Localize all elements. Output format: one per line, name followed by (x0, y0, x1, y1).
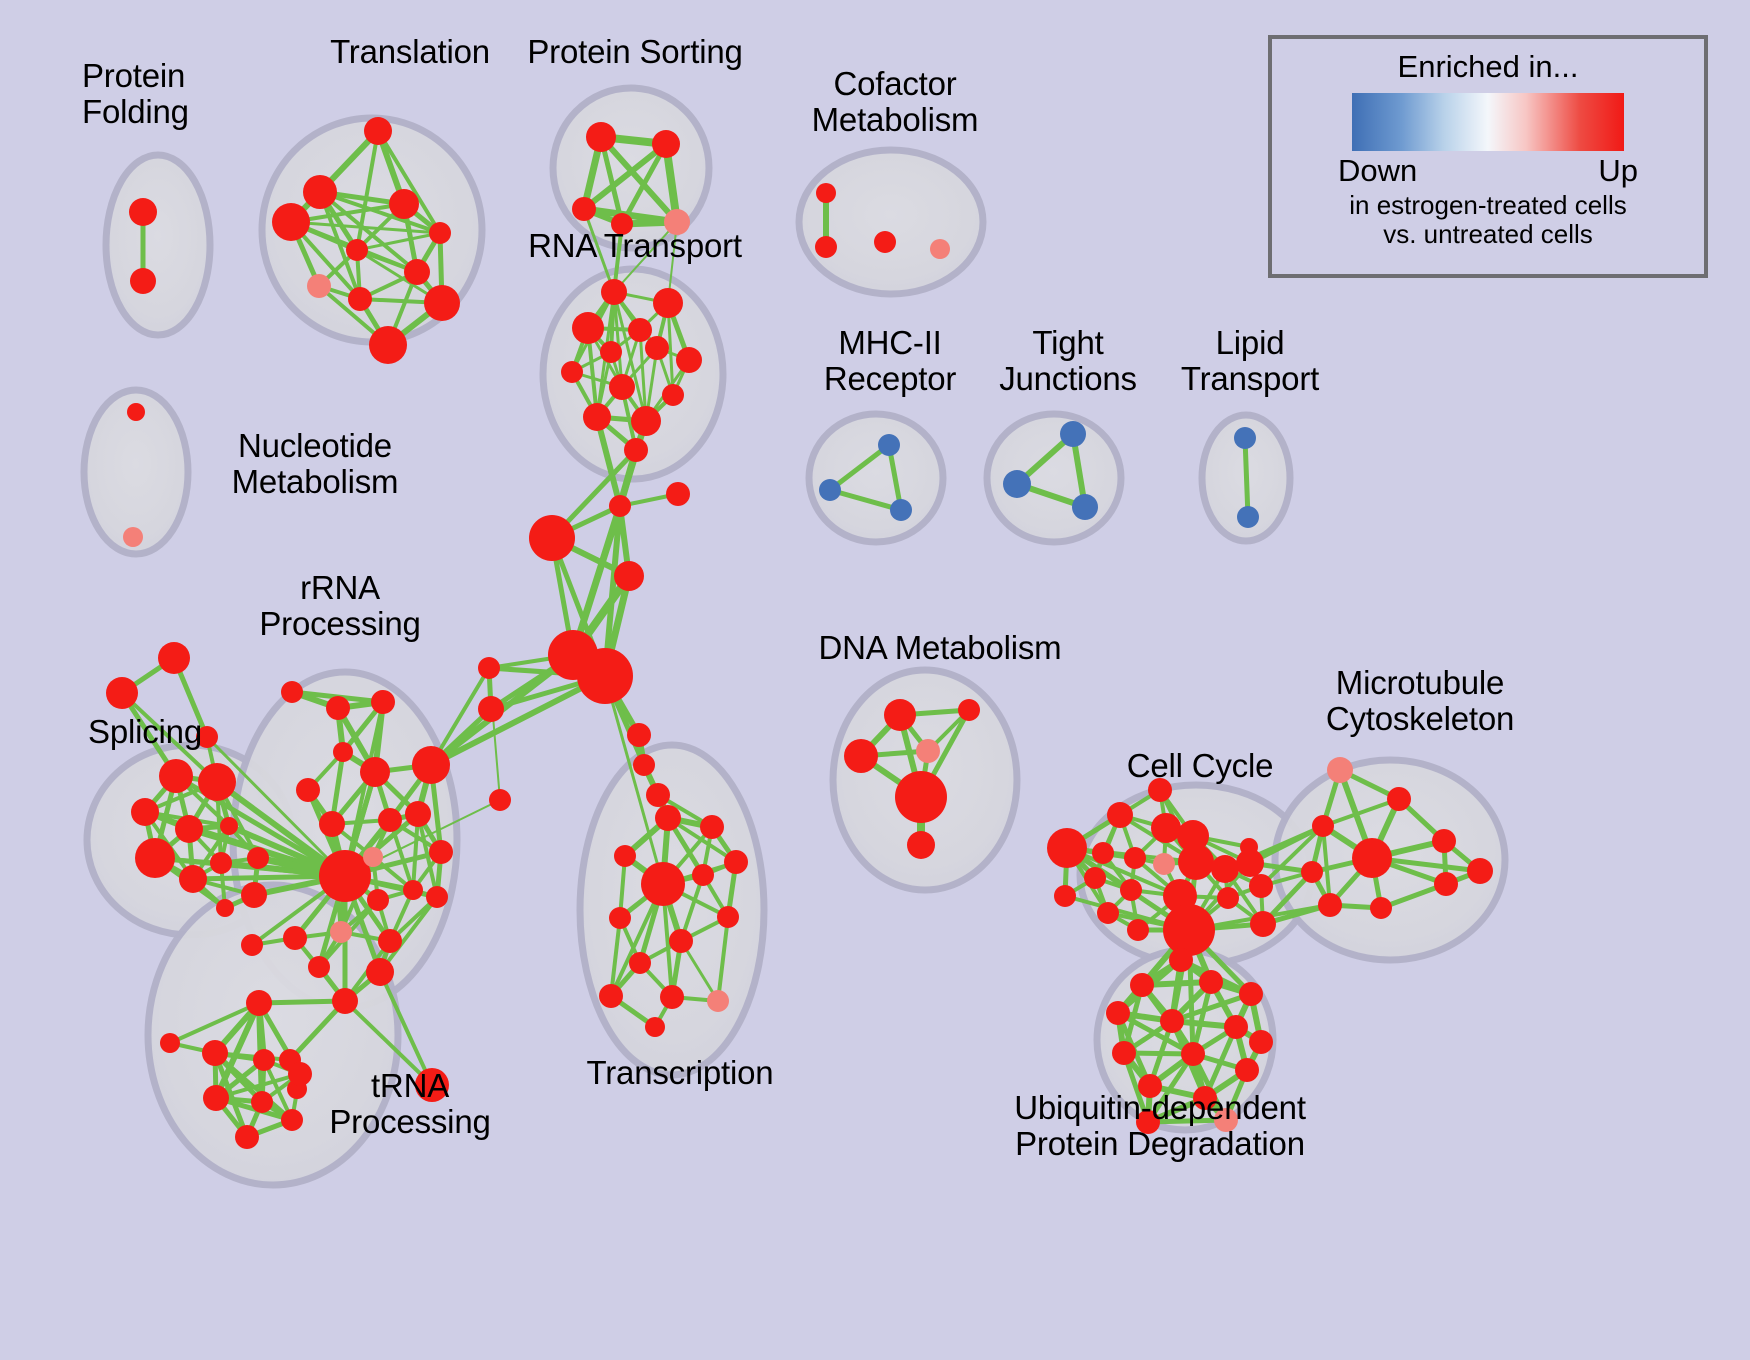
gene-set-node[interactable] (1214, 1108, 1238, 1132)
gene-set-node[interactable] (429, 222, 451, 244)
gene-set-node[interactable] (874, 231, 896, 253)
gene-set-node[interactable] (203, 1085, 229, 1111)
gene-set-node[interactable] (1239, 982, 1263, 1006)
gene-set-node[interactable] (627, 723, 651, 747)
gene-set-node[interactable] (330, 921, 352, 943)
gene-set-node[interactable] (296, 778, 320, 802)
gene-set-node[interactable] (614, 561, 644, 591)
gene-set-node[interactable] (645, 1017, 665, 1037)
gene-set-node[interactable] (572, 197, 596, 221)
cluster-hull-protein-folding (106, 155, 210, 335)
gene-set-node[interactable] (1084, 867, 1106, 889)
gene-set-node[interactable] (251, 1091, 273, 1113)
gene-set-node[interactable] (363, 847, 383, 867)
gene-set-node[interactable] (890, 499, 912, 521)
gene-set-node[interactable] (676, 347, 702, 373)
gene-set-node[interactable] (241, 934, 263, 956)
gene-set-node[interactable] (360, 757, 390, 787)
gene-set-node[interactable] (586, 122, 616, 152)
gene-set-node[interactable] (283, 926, 307, 950)
gene-set-node[interactable] (1217, 887, 1239, 909)
gene-set-node[interactable] (1318, 893, 1342, 917)
gene-set-node[interactable] (816, 183, 836, 203)
gene-set-node[interactable] (131, 798, 159, 826)
gene-set-node[interactable] (958, 699, 980, 721)
gene-set-node[interactable] (631, 406, 661, 436)
gene-set-node[interactable] (884, 699, 916, 731)
gene-set-node[interactable] (1467, 858, 1493, 884)
gene-set-node[interactable] (333, 742, 353, 762)
gene-set-node[interactable] (106, 677, 138, 709)
gene-set-node[interactable] (308, 956, 330, 978)
gene-set-node[interactable] (561, 361, 583, 383)
gene-set-node[interactable] (369, 326, 407, 364)
gene-set-node[interactable] (1112, 1041, 1136, 1065)
gene-set-node[interactable] (577, 648, 633, 704)
gene-set-node[interactable] (1148, 778, 1172, 802)
gene-set-node[interactable] (1434, 872, 1458, 896)
legend-subtitle-line-2: vs. untreated cells (1383, 220, 1593, 249)
gene-set-node[interactable] (1370, 897, 1392, 919)
gene-set-node[interactable] (916, 739, 940, 763)
gene-set-node[interactable] (489, 789, 511, 811)
gene-set-node[interactable] (326, 696, 350, 720)
gene-set-node[interactable] (629, 952, 651, 974)
gene-set-node[interactable] (609, 907, 631, 929)
gene-set-node[interactable] (645, 336, 669, 360)
gene-set-node[interactable] (599, 984, 623, 1008)
gene-set-node[interactable] (611, 213, 633, 235)
gene-set-node[interactable] (478, 696, 504, 722)
gene-set-node[interactable] (246, 990, 272, 1016)
legend-up-label: Up (1598, 153, 1638, 189)
gene-set-node[interactable] (307, 274, 331, 298)
gene-set-node[interactable] (633, 754, 655, 776)
gene-set-node[interactable] (175, 815, 203, 843)
gene-set-node[interactable] (429, 840, 453, 864)
gene-set-node[interactable] (878, 434, 900, 456)
gene-set-node[interactable] (1224, 1015, 1248, 1039)
gene-set-node[interactable] (288, 1062, 312, 1086)
gene-set-node[interactable] (609, 495, 631, 517)
gene-set-node[interactable] (1130, 973, 1154, 997)
gene-set-node[interactable] (129, 198, 157, 226)
gene-set-node[interactable] (1249, 1030, 1273, 1054)
gene-set-node[interactable] (253, 1049, 275, 1071)
gene-set-node[interactable] (247, 847, 269, 869)
gene-set-node[interactable] (389, 189, 419, 219)
gene-set-node[interactable] (669, 929, 693, 953)
gene-set-node[interactable] (403, 880, 423, 900)
gene-set-node[interactable] (303, 175, 337, 209)
gene-set-node[interactable] (1312, 815, 1334, 837)
gene-set-node[interactable] (653, 288, 683, 318)
gene-set-node[interactable] (646, 783, 670, 807)
gene-set-node[interactable] (202, 1040, 228, 1066)
gene-set-node[interactable] (319, 811, 345, 837)
gene-set-node[interactable] (907, 831, 935, 859)
gene-set-node[interactable] (364, 117, 392, 145)
gene-set-node[interactable] (1072, 494, 1098, 520)
gene-set-node[interactable] (1432, 829, 1456, 853)
gene-set-node[interactable] (1127, 919, 1149, 941)
gene-set-node[interactable] (159, 759, 193, 793)
gene-set-node[interactable] (1092, 842, 1114, 864)
gene-set-node[interactable] (717, 906, 739, 928)
gene-set-node[interactable] (378, 929, 402, 953)
gene-set-node[interactable] (1301, 861, 1323, 883)
gene-set-node[interactable] (415, 1068, 449, 1102)
gene-set-node[interactable] (1235, 1058, 1259, 1082)
gene-set-node[interactable] (196, 726, 218, 748)
gene-set-node[interactable] (1124, 847, 1146, 869)
gene-set-node[interactable] (600, 341, 622, 363)
gene-set-node[interactable] (572, 312, 604, 344)
gene-set-node[interactable] (1193, 1086, 1217, 1110)
gene-set-node[interactable] (1181, 1042, 1205, 1066)
gene-set-node[interactable] (235, 1125, 259, 1149)
gene-set-node[interactable] (371, 690, 395, 714)
gene-set-node[interactable] (666, 482, 690, 506)
gene-set-node[interactable] (1047, 828, 1087, 868)
gene-set-node[interactable] (348, 287, 372, 311)
gene-set-node[interactable] (404, 259, 430, 285)
gene-set-node[interactable] (660, 985, 684, 1009)
gene-set-node[interactable] (662, 384, 684, 406)
gene-set-node[interactable] (724, 850, 748, 874)
gene-set-node[interactable] (1327, 757, 1353, 783)
gene-set-node[interactable] (819, 479, 841, 501)
gene-set-node[interactable] (158, 642, 190, 674)
gene-set-node[interactable] (1178, 844, 1214, 880)
gene-set-node[interactable] (815, 236, 837, 258)
legend-down-label: Down (1338, 153, 1417, 189)
gene-set-node[interactable] (478, 657, 500, 679)
gene-set-node[interactable] (1163, 904, 1215, 956)
gene-set-node[interactable] (1249, 874, 1273, 898)
legend-title: Enriched in... (1398, 49, 1579, 85)
gene-set-node[interactable] (198, 763, 236, 801)
gene-set-node[interactable] (281, 681, 303, 703)
gene-set-node[interactable] (378, 808, 402, 832)
gene-set-node[interactable] (135, 838, 175, 878)
gene-set-node[interactable] (1234, 427, 1256, 449)
gene-set-node[interactable] (272, 203, 310, 241)
gene-set-node[interactable] (127, 403, 145, 421)
gene-set-node[interactable] (601, 279, 627, 305)
gene-set-node[interactable] (614, 845, 636, 867)
gene-set-node[interactable] (210, 852, 232, 874)
gene-set-node[interactable] (609, 374, 635, 400)
gene-set-node[interactable] (1003, 470, 1031, 498)
gene-set-node[interactable] (130, 268, 156, 294)
gene-set-node[interactable] (220, 817, 238, 835)
gene-set-node[interactable] (664, 209, 690, 235)
gene-set-node[interactable] (366, 958, 394, 986)
gene-set-node[interactable] (160, 1033, 180, 1053)
gene-set-node[interactable] (1169, 948, 1193, 972)
gene-set-node[interactable] (692, 864, 714, 886)
gene-set-node[interactable] (216, 899, 234, 917)
gene-set-node[interactable] (1107, 802, 1133, 828)
legend-panel: Enriched in... Down Up in estrogen-treat… (1268, 35, 1708, 278)
gene-set-node[interactable] (1060, 421, 1086, 447)
gene-set-node[interactable] (424, 285, 460, 321)
gene-set-node[interactable] (652, 130, 680, 158)
legend-subtitle-line-1: in estrogen-treated cells (1349, 191, 1626, 220)
gene-set-node[interactable] (1136, 1110, 1160, 1134)
gene-set-node[interactable] (1211, 855, 1239, 883)
gene-set-node[interactable] (707, 990, 729, 1012)
gene-set-node[interactable] (1236, 849, 1264, 877)
gene-set-node[interactable] (241, 882, 267, 908)
gene-set-node[interactable] (179, 865, 207, 893)
gene-set-node[interactable] (930, 239, 950, 259)
gene-set-node[interactable] (281, 1109, 303, 1131)
gene-set-node[interactable] (1138, 1074, 1162, 1098)
gene-set-node[interactable] (346, 239, 368, 261)
gene-set-node[interactable] (655, 805, 681, 831)
gene-set-node[interactable] (700, 815, 724, 839)
gene-set-node[interactable] (895, 771, 947, 823)
gene-set-node[interactable] (412, 746, 450, 784)
gene-set-node[interactable] (1250, 911, 1276, 937)
gene-set-node[interactable] (1160, 1009, 1184, 1033)
gene-set-node[interactable] (624, 438, 648, 462)
gene-set-node[interactable] (1352, 838, 1392, 878)
gene-set-node[interactable] (641, 862, 685, 906)
enrichment-map-figure: Protein FoldingTranslationProtein Sortin… (0, 0, 1750, 1360)
gene-set-node[interactable] (426, 886, 448, 908)
gene-set-node[interactable] (1199, 970, 1223, 994)
gene-set-node[interactable] (529, 515, 575, 561)
gene-set-node[interactable] (1120, 879, 1142, 901)
gene-set-node[interactable] (844, 739, 878, 773)
gene-set-node[interactable] (1054, 885, 1076, 907)
gene-set-node[interactable] (1106, 1001, 1130, 1025)
gene-set-node[interactable] (1097, 902, 1119, 924)
gene-set-node[interactable] (367, 889, 389, 911)
gene-set-node[interactable] (628, 318, 652, 342)
gene-set-node[interactable] (123, 527, 143, 547)
legend-endpoints: Down Up (1338, 153, 1638, 189)
gene-set-node[interactable] (332, 988, 358, 1014)
gene-set-node[interactable] (1151, 813, 1181, 843)
gene-set-node[interactable] (1387, 787, 1411, 811)
gene-set-node[interactable] (1153, 853, 1175, 875)
cluster-hull-mhc-ii-receptor (809, 414, 943, 542)
gene-set-node[interactable] (583, 403, 611, 431)
edge (1245, 438, 1248, 517)
gene-set-node[interactable] (1237, 506, 1259, 528)
color-scale-bar (1352, 93, 1624, 151)
gene-set-node[interactable] (405, 801, 431, 827)
